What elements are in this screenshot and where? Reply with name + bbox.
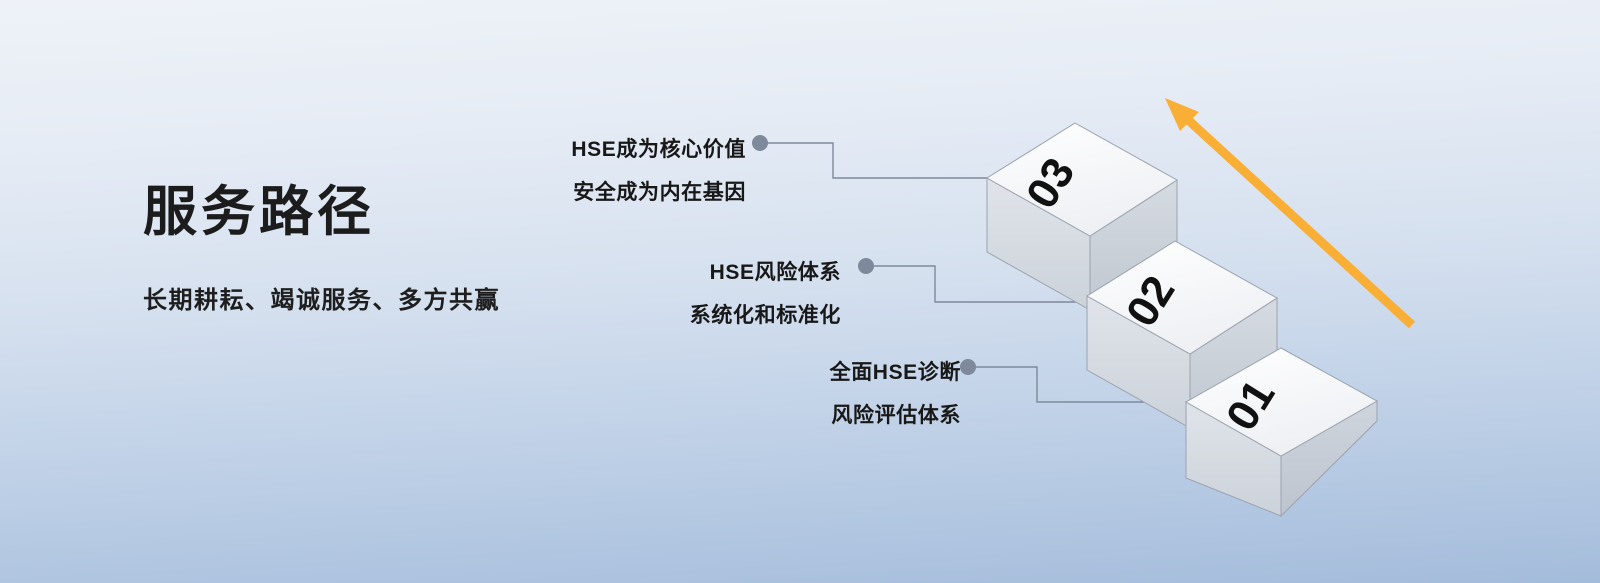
step-01-line-1: 全面HSE诊断 (803, 351, 961, 394)
step-02-line-1: HSE风险体系 (681, 251, 841, 294)
step-label-02: HSE风险体系 系统化和标准化 (681, 251, 841, 337)
upward-growth-arrow (1165, 98, 1412, 325)
step-01-line-2: 风险评估体系 (803, 394, 961, 437)
step-label-03: HSE成为核心价值 安全成为内在基因 (556, 128, 746, 214)
arrow-shaft (1186, 118, 1412, 325)
step-03-line-1: HSE成为核心价值 (556, 128, 746, 171)
step-02-line-2: 系统化和标准化 (681, 294, 841, 337)
step-label-01: 全面HSE诊断 风险评估体系 (803, 351, 961, 437)
infographic-canvas: 服务路径 长期耕耘、竭诚服务、多方共赢 (0, 0, 1600, 583)
step-03-line-2: 安全成为内在基因 (556, 171, 746, 214)
